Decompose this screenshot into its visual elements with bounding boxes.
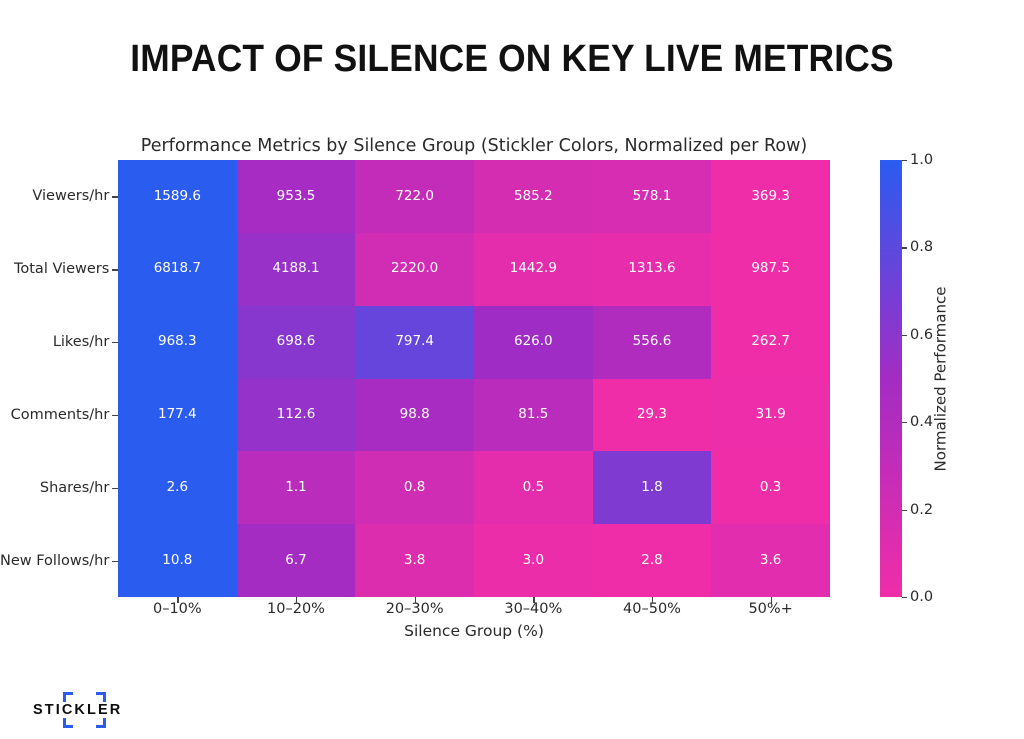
heatmap-cell: 2220.0 <box>355 233 474 306</box>
y-axis-label-1: Total Viewers <box>0 233 111 306</box>
heatmap-cell: 1442.9 <box>474 233 593 306</box>
heatmap-grid: 1589.6953.5722.0585.2578.1369.36818.7418… <box>118 160 830 597</box>
heatmap-cell: 556.6 <box>593 306 712 379</box>
heatmap-cell: 1.8 <box>593 451 712 524</box>
y-axis-tick <box>112 342 118 343</box>
heatmap-cell-value: 262.7 <box>751 335 790 349</box>
heatmap-cell: 81.5 <box>474 379 593 452</box>
colorbar-tick <box>902 160 907 161</box>
colorbar <box>880 160 902 597</box>
heatmap-cell: 6818.7 <box>118 233 237 306</box>
x-axis-tick <box>533 597 534 603</box>
heatmap-cell: 3.0 <box>474 524 593 597</box>
stickler-logo: STICKLER <box>33 692 133 728</box>
heatmap-cell: 1589.6 <box>118 160 237 233</box>
heatmap-cell-value: 1.8 <box>641 481 662 495</box>
x-axis-tick <box>771 597 772 603</box>
colorbar-title: Normalized Performance <box>929 160 951 597</box>
colorbar-tick <box>902 510 907 511</box>
x-axis-label-2: 20–30% <box>355 601 474 623</box>
heatmap-cell-value: 722.0 <box>395 190 434 204</box>
heatmap-cell-value: 3.6 <box>760 554 781 568</box>
heatmap-cell-value: 177.4 <box>158 408 197 422</box>
y-axis-tick <box>112 561 118 562</box>
heatmap-cell: 0.5 <box>474 451 593 524</box>
heatmap-cell-value: 2.6 <box>167 481 188 495</box>
heatmap-cell-value: 797.4 <box>395 335 434 349</box>
heatmap-cell-value: 98.8 <box>400 408 430 422</box>
heatmap-cell: 797.4 <box>355 306 474 379</box>
x-axis-label-1: 10–20% <box>237 601 356 623</box>
y-axis-label-2: Likes/hr <box>0 306 111 379</box>
y-axis-label-3: Comments/hr <box>0 379 111 452</box>
heatmap-cell: 626.0 <box>474 306 593 379</box>
heatmap-cell: 2.8 <box>593 524 712 597</box>
x-axis-labels: 0–10% 10–20% 20–30% 30–40% 40–50% 50%+ <box>118 601 830 623</box>
heatmap-cell-value: 585.2 <box>514 190 553 204</box>
heatmap-cell: 29.3 <box>593 379 712 452</box>
heatmap-cell-value: 698.6 <box>277 335 316 349</box>
heatmap-cell-value: 578.1 <box>633 190 672 204</box>
x-axis-title: Silence Group (%) <box>118 622 830 640</box>
heatmap-cell-value: 112.6 <box>277 408 316 422</box>
heatmap-cell-value: 10.8 <box>162 554 192 568</box>
heatmap-cell: 3.8 <box>355 524 474 597</box>
heatmap-cell-value: 369.3 <box>751 190 790 204</box>
heatmap-cell: 1.1 <box>237 451 356 524</box>
bracket-top-left-icon <box>63 692 73 702</box>
heatmap-cell: 112.6 <box>237 379 356 452</box>
heatmap-cell-value: 31.9 <box>756 408 786 422</box>
x-axis-label-5: 50%+ <box>711 601 830 623</box>
colorbar-tick <box>902 597 907 598</box>
colorbar-tick <box>902 422 907 423</box>
y-axis-label-5: New Follows/hr <box>0 524 111 597</box>
heatmap-cell-value: 1313.6 <box>628 262 675 276</box>
heatmap-figure: Performance Metrics by Silence Group (St… <box>0 0 1024 739</box>
heatmap-cell-value: 3.8 <box>404 554 425 568</box>
heatmap-cell: 262.7 <box>711 306 830 379</box>
y-axis-tick <box>112 415 118 416</box>
colorbar-title-text: Normalized Performance <box>931 286 949 471</box>
heatmap-cell-value: 29.3 <box>637 408 667 422</box>
heatmap-cell: 1313.6 <box>593 233 712 306</box>
colorbar-tick <box>902 247 907 248</box>
heatmap-cell: 369.3 <box>711 160 830 233</box>
heatmap-cell: 98.8 <box>355 379 474 452</box>
heatmap-cell: 987.5 <box>711 233 830 306</box>
heatmap-cell-value: 4188.1 <box>272 262 319 276</box>
heatmap-cell-value: 1.1 <box>285 481 306 495</box>
heatmap-cell-value: 968.3 <box>158 335 197 349</box>
y-axis-label-4: Shares/hr <box>0 451 111 524</box>
heatmap-cell-value: 0.3 <box>760 481 781 495</box>
heatmap-cell-value: 0.8 <box>404 481 425 495</box>
heatmap-cell-value: 0.5 <box>523 481 544 495</box>
y-axis-tick <box>112 196 118 197</box>
x-axis-label-3: 30–40% <box>474 601 593 623</box>
colorbar-tick <box>902 335 907 336</box>
logo-wordmark: STICKLER <box>33 702 122 718</box>
heatmap-cell: 31.9 <box>711 379 830 452</box>
y-axis-labels: Viewers/hr Total Viewers Likes/hr Commen… <box>0 160 110 597</box>
y-axis-tick <box>112 488 118 489</box>
heatmap-cell: 10.8 <box>118 524 237 597</box>
heatmap-cell: 953.5 <box>237 160 356 233</box>
x-axis-tick <box>415 597 416 603</box>
heatmap-cell: 6.7 <box>237 524 356 597</box>
heatmap-cell: 177.4 <box>118 379 237 452</box>
heatmap-cell-value: 987.5 <box>751 262 790 276</box>
heatmap-cell: 722.0 <box>355 160 474 233</box>
x-axis-label-4: 40–50% <box>593 601 712 623</box>
heatmap-cell: 585.2 <box>474 160 593 233</box>
y-axis-label-0: Viewers/hr <box>0 160 111 233</box>
heatmap-cell: 698.6 <box>237 306 356 379</box>
heatmap-cell-value: 1589.6 <box>154 190 201 204</box>
heatmap-cell-value: 2220.0 <box>391 262 438 276</box>
x-axis-tick <box>652 597 653 603</box>
heatmap-cell: 2.6 <box>118 451 237 524</box>
heatmap-cell: 968.3 <box>118 306 237 379</box>
heatmap-cell-value: 1442.9 <box>510 262 557 276</box>
heatmap-cell-value: 2.8 <box>641 554 662 568</box>
heatmap-cell-value: 6.7 <box>285 554 306 568</box>
heatmap-cell-value: 556.6 <box>633 335 672 349</box>
chart-subtitle: Performance Metrics by Silence Group (St… <box>118 136 830 156</box>
x-axis-label-0: 0–10% <box>118 601 237 623</box>
x-axis-tick <box>177 597 178 603</box>
heatmap-cell: 578.1 <box>593 160 712 233</box>
heatmap-cell: 0.8 <box>355 451 474 524</box>
heatmap-cell: 3.6 <box>711 524 830 597</box>
heatmap-cell-value: 81.5 <box>518 408 548 422</box>
heatmap-cell: 0.3 <box>711 451 830 524</box>
heatmap-cell-value: 3.0 <box>523 554 544 568</box>
heatmap-cell-value: 953.5 <box>277 190 316 204</box>
x-axis-tick <box>296 597 297 603</box>
y-axis-tick <box>112 269 118 270</box>
heatmap-cell: 4188.1 <box>237 233 356 306</box>
heatmap-cell-value: 626.0 <box>514 335 553 349</box>
bracket-bottom-right-icon <box>96 718 106 728</box>
bracket-bottom-left-icon <box>63 718 73 728</box>
bracket-top-right-icon <box>96 692 106 702</box>
heatmap-cell-value: 6818.7 <box>154 262 201 276</box>
